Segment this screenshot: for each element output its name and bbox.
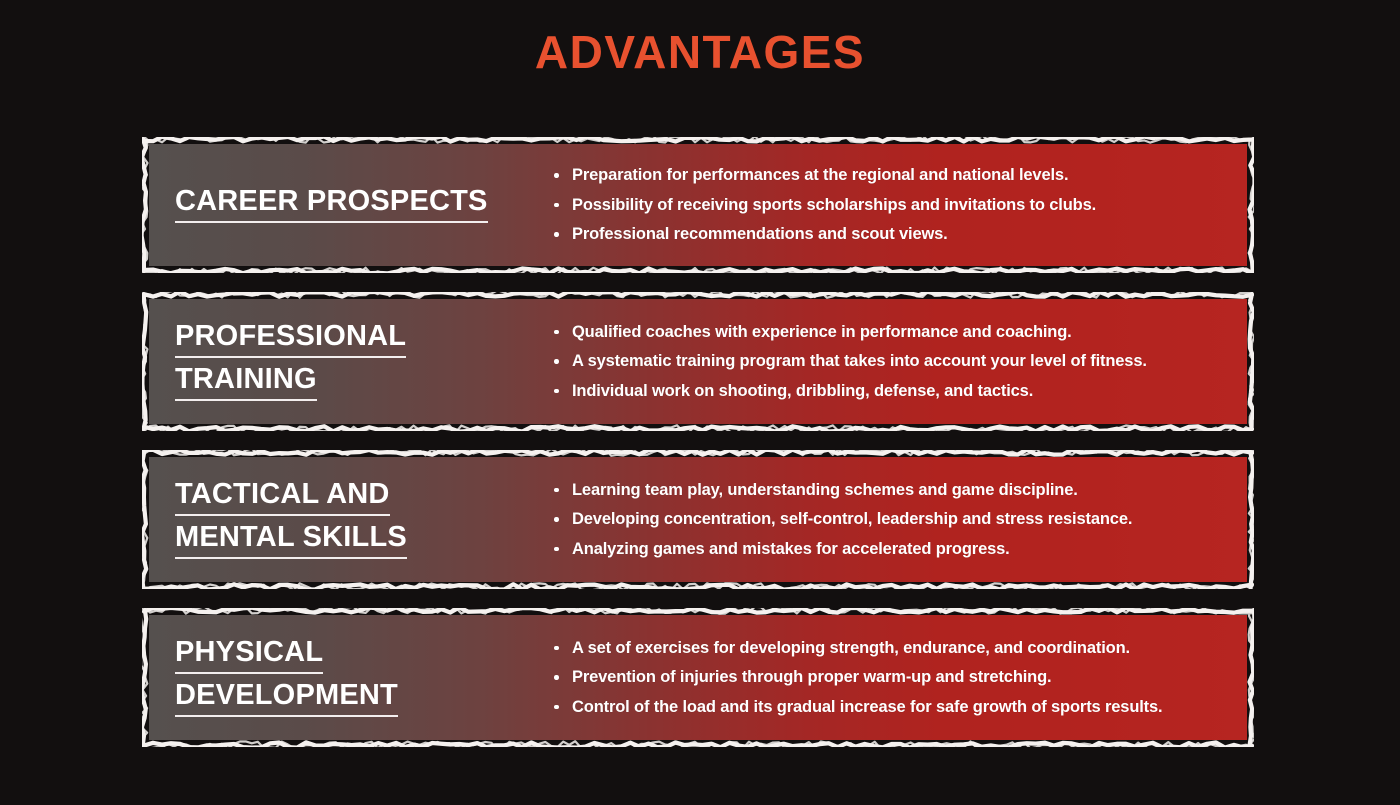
card-bullet-item: Control of the load and its gradual incr… <box>551 699 1229 716</box>
card-bullet-item: Analyzing games and mistakes for acceler… <box>551 541 1229 558</box>
advantages-slide: ADVANTAGES CAREER PROSPECTSPreparation f… <box>0 0 1400 805</box>
card-title: TACTICAL ANDMENTAL SKILLS <box>175 480 531 559</box>
card-body: PHYSICALDEVELOPMENTA set of exercises fo… <box>149 615 1247 740</box>
card-title: CAREER PROSPECTS <box>175 187 531 223</box>
card-title-column: PROFESSIONALTRAINING <box>149 322 541 401</box>
card-title-line: CAREER PROSPECTS <box>175 187 488 223</box>
card-bullet-item: Possibility of receiving sports scholars… <box>551 197 1229 214</box>
advantage-card[interactable]: CAREER PROSPECTSPreparation for performa… <box>146 141 1250 269</box>
card-title-line: DEVELOPMENT <box>175 681 398 717</box>
card-title: PHYSICALDEVELOPMENT <box>175 638 531 717</box>
card-bullet-item: Developing concentration, self-control, … <box>551 511 1229 528</box>
card-title-line: PHYSICAL <box>175 638 323 674</box>
card-title-column: CAREER PROSPECTS <box>149 187 541 223</box>
advantage-card-list: CAREER PROSPECTSPreparation for performa… <box>146 141 1250 743</box>
card-title-column: TACTICAL ANDMENTAL SKILLS <box>149 480 541 559</box>
card-bullet-item: Individual work on shooting, dribbling, … <box>551 383 1229 400</box>
card-title-column: PHYSICALDEVELOPMENT <box>149 638 541 717</box>
advantage-card[interactable]: PROFESSIONALTRAININGQualified coaches wi… <box>146 296 1250 427</box>
card-bullet-item: Learning team play, understanding scheme… <box>551 482 1229 499</box>
card-bullet-item: Prevention of injuries through proper wa… <box>551 669 1229 686</box>
card-title: PROFESSIONALTRAINING <box>175 322 531 401</box>
card-bullet-list: Preparation for performances at the regi… <box>541 167 1247 243</box>
card-body: PROFESSIONALTRAININGQualified coaches wi… <box>149 299 1247 424</box>
card-bullet-item: Preparation for performances at the regi… <box>551 167 1229 184</box>
card-bullet-list: A set of exercises for developing streng… <box>541 640 1247 716</box>
card-bullet-list: Learning team play, understanding scheme… <box>541 482 1247 558</box>
advantage-card[interactable]: PHYSICALDEVELOPMENTA set of exercises fo… <box>146 612 1250 743</box>
card-bullet-item: Professional recommendations and scout v… <box>551 226 1229 243</box>
card-body: CAREER PROSPECTSPreparation for performa… <box>149 144 1247 266</box>
card-bullet-item: A set of exercises for developing streng… <box>551 640 1229 657</box>
card-bullet-item: Qualified coaches with experience in per… <box>551 324 1229 341</box>
card-bullet-list: Qualified coaches with experience in per… <box>541 324 1247 400</box>
card-title-line: TRAINING <box>175 365 317 401</box>
card-body: TACTICAL ANDMENTAL SKILLSLearning team p… <box>149 457 1247 582</box>
card-title-line: MENTAL SKILLS <box>175 523 407 559</box>
card-title-line: PROFESSIONAL <box>175 322 406 358</box>
card-bullet-item: A systematic training program that takes… <box>551 353 1229 370</box>
card-title-line: TACTICAL AND <box>175 480 390 516</box>
page-title: ADVANTAGES <box>0 29 1400 75</box>
advantage-card[interactable]: TACTICAL ANDMENTAL SKILLSLearning team p… <box>146 454 1250 585</box>
